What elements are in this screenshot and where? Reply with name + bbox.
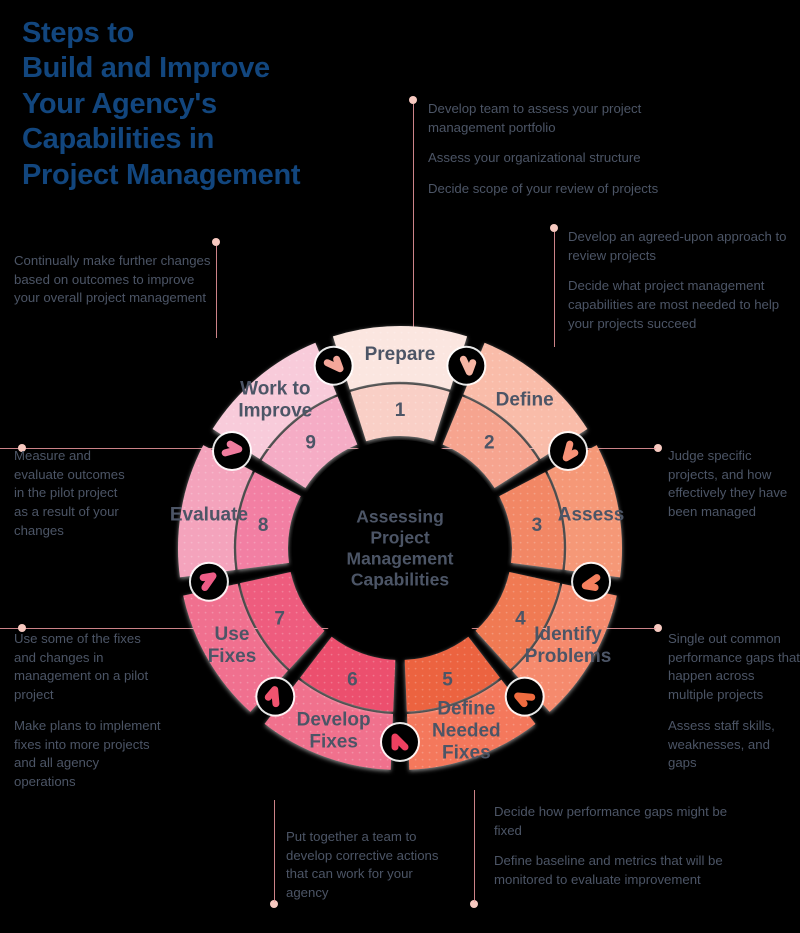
- note-assess: Judge specific projects, and how effecti…: [668, 447, 800, 522]
- segment-number-define: 2: [484, 433, 495, 454]
- segment-number-develop-fixes: 6: [347, 670, 358, 691]
- arrow-step-6-icon[interactable]: [380, 722, 420, 762]
- segment-label-use-fixes: UseFixes: [208, 624, 257, 667]
- donut-wheel: Prepare1Define2Assess3IdentifyProblems4D…: [120, 268, 680, 828]
- title-line: Steps to: [22, 16, 422, 51]
- connector-dot-work-improve: [212, 238, 220, 246]
- note-prepare: Develop team to assess your project mana…: [428, 100, 708, 199]
- arrow-step-3-icon[interactable]: [548, 431, 588, 471]
- arrow-step-5-icon[interactable]: [505, 677, 545, 717]
- note-line: Assess staff skills, weaknesses, and gap…: [668, 717, 800, 773]
- note-develop-fixes: Put together a team to develop correctiv…: [286, 828, 446, 903]
- center-label: AssessingProjectManagementCapabilities: [347, 507, 454, 590]
- segment-number-evaluate: 8: [258, 515, 269, 536]
- arrow-step-7-icon[interactable]: [255, 677, 295, 717]
- note-line: Develop team to assess your project mana…: [428, 100, 708, 137]
- arrow-step-8-icon[interactable]: [189, 562, 229, 602]
- title-line: Project Management: [22, 158, 422, 193]
- note-line: Decide scope of your review of projects: [428, 180, 708, 199]
- note-line: Define baseline and metrics that will be…: [494, 852, 734, 889]
- arrow-step-1-icon[interactable]: [314, 346, 354, 386]
- title-line: Build and Improve: [22, 51, 422, 86]
- note-line: Develop an agreed-upon approach to revie…: [568, 228, 800, 265]
- segment-number-use-fixes: 7: [274, 609, 285, 630]
- note-line: Judge specific projects, and how effecti…: [668, 447, 800, 522]
- title-line: Your Agency's: [22, 87, 422, 122]
- segment-label-identify-problems: IdentifyProblems: [525, 624, 612, 667]
- arrow-step-9-icon[interactable]: [212, 431, 252, 471]
- center-label-text: AssessingProjectManagementCapabilities: [347, 507, 454, 590]
- segment-label-work-to-improve: Work toImprove: [238, 378, 312, 421]
- arrow-step-2-icon[interactable]: [446, 346, 486, 386]
- page-title: Steps toBuild and ImproveYour Agency'sCa…: [22, 16, 422, 193]
- note-identify-problems: Single out common performance gaps that …: [668, 630, 800, 773]
- infographic-canvas: Steps toBuild and ImproveYour Agency'sCa…: [0, 0, 800, 933]
- segment-label-define: Define: [496, 389, 554, 410]
- note-line: Measure and evaluate outcomes in the pil…: [14, 447, 134, 541]
- segment-number-work-to-improve: 9: [305, 433, 316, 454]
- connector-dot-define: [550, 224, 558, 232]
- connector-dot-prepare: [409, 96, 417, 104]
- note-line: Put together a team to develop correctiv…: [286, 828, 446, 903]
- arrow-step-4-icon[interactable]: [571, 562, 611, 602]
- segment-label-assess: Assess: [558, 504, 625, 525]
- segment-number-identify-problems: 4: [515, 609, 526, 630]
- segment-number-prepare: 1: [395, 400, 406, 421]
- note-line: Single out common performance gaps that …: [668, 630, 800, 705]
- note-evaluate: Measure and evaluate outcomes in the pil…: [14, 447, 134, 541]
- segment-label-evaluate: Evaluate: [170, 504, 248, 525]
- segment-label-prepare: Prepare: [365, 344, 436, 365]
- segment-label-define-needed-fixes: DefineNeededFixes: [432, 698, 501, 763]
- segment-number-assess: 3: [532, 515, 543, 536]
- segment-number-define-needed-fixes: 5: [442, 670, 453, 691]
- title-line: Capabilities in: [22, 122, 422, 157]
- note-line: Assess your organizational structure: [428, 149, 708, 168]
